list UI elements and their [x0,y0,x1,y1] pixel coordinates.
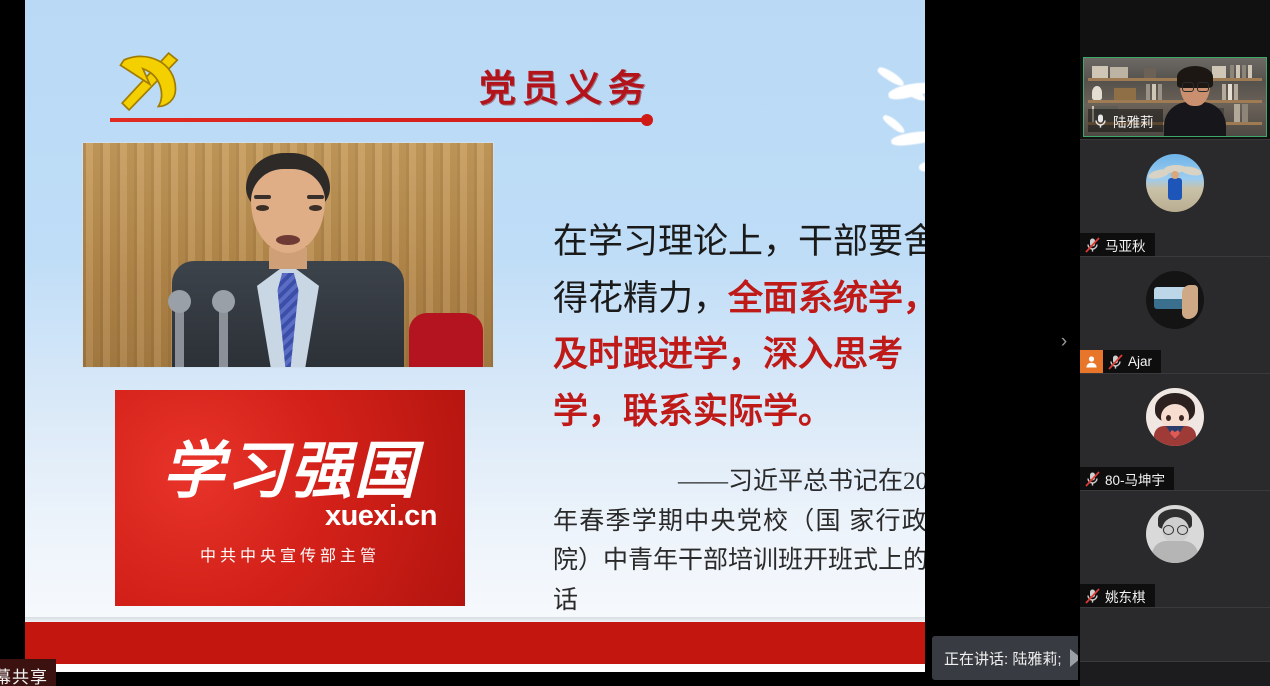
glasses-icon [1163,525,1188,533]
participant-badge: Ajar [1080,350,1161,373]
avatar [1146,505,1204,563]
active-speaker-toast: 正在讲话: 陆雅莉; [932,636,1078,680]
slide-attribution: ——习近平总书记在2019年春季学期中央党校（国 家行政学院）中青年干部培训班开… [553,462,925,620]
microphone-muted-icon [1108,354,1123,370]
attribution-lead: ——习近平总书记在2019 [553,462,925,502]
participants-sidebar[interactable]: 陆雅莉 [1080,0,1270,686]
glasses-icon [1182,82,1209,90]
attribution-rest: 年春季学期中央党校（国 家行政学院）中青年干部培训班开班式上的讲话 [553,508,925,614]
participant-name: 马亚秋 [1105,235,1146,255]
microphone-prop-icon [175,303,184,367]
participant-name: 80-马坤宇 [1105,469,1165,489]
participant-tile[interactable]: 姚东棋 [1080,491,1270,608]
participant-badge: 姚东棋 [1080,584,1155,607]
xuexi-logo-text: 学习强国 [115,420,465,510]
participant-name: 姚东棋 [1105,586,1146,606]
avatar [1146,154,1204,212]
screen-share-label: 幕共享 [0,659,56,686]
participant-badge: 马亚秋 [1080,233,1155,256]
xuexi-url-text: xuexi.cn [115,500,465,533]
title-divider [110,118,645,122]
chevron-right-icon[interactable]: › [1052,327,1076,357]
participant-tile[interactable]: 80-马坤宇 [1080,374,1270,491]
slide-footer-band [25,622,925,664]
microphone-prop-icon [219,303,228,367]
participant-badge: 陆雅莉 [1088,109,1163,132]
slide-quote: 在学习理论上，干部要舍得花精力，全面系统学，及时跟进学，深入思考学，联系实际学。 [553,214,925,441]
shared-screen-region[interactable]: 党员义务 [0,0,1078,686]
participant-name: 陆雅莉 [1113,111,1154,131]
microphone-icon [1093,113,1108,129]
person-icon [1080,350,1103,373]
conference-window: 党员义务 [0,0,1270,686]
participant-badge: 80-马坤宇 [1080,467,1174,490]
speaker-photo [82,142,494,368]
participant-tile[interactable]: 马亚秋 [1080,140,1270,257]
xuexi-banner: 学习强国 xuexi.cn 中共中央宣传部主管 [115,390,465,606]
hammer-and-sickle-icon [105,36,191,122]
dove-icon [877,118,925,152]
microphone-muted-icon [1085,237,1100,253]
page-title: 党员义务 [355,58,775,112]
presentation-slide: 党员义务 [25,0,925,672]
microphone-muted-icon [1085,471,1100,487]
participant-tile[interactable]: Ajar [1080,257,1270,374]
participant-name: Ajar [1128,354,1152,369]
sound-wave-icon [1070,649,1078,667]
dove-icon [913,150,925,176]
participant-video[interactable]: 陆雅莉 [1083,57,1267,137]
title-divider-dot [641,114,653,126]
avatar [1146,271,1204,329]
active-speaker-text: 正在讲话: 陆雅莉; [944,648,1062,669]
participant-tile-partial[interactable] [1080,608,1270,662]
microphone-muted-icon [1085,588,1100,604]
avatar [1146,388,1204,446]
participant-tile[interactable]: 陆雅莉 [1080,0,1270,140]
dove-icon [870,72,925,106]
xuexi-subtitle-text: 中共中央宣传部主管 [115,542,465,566]
